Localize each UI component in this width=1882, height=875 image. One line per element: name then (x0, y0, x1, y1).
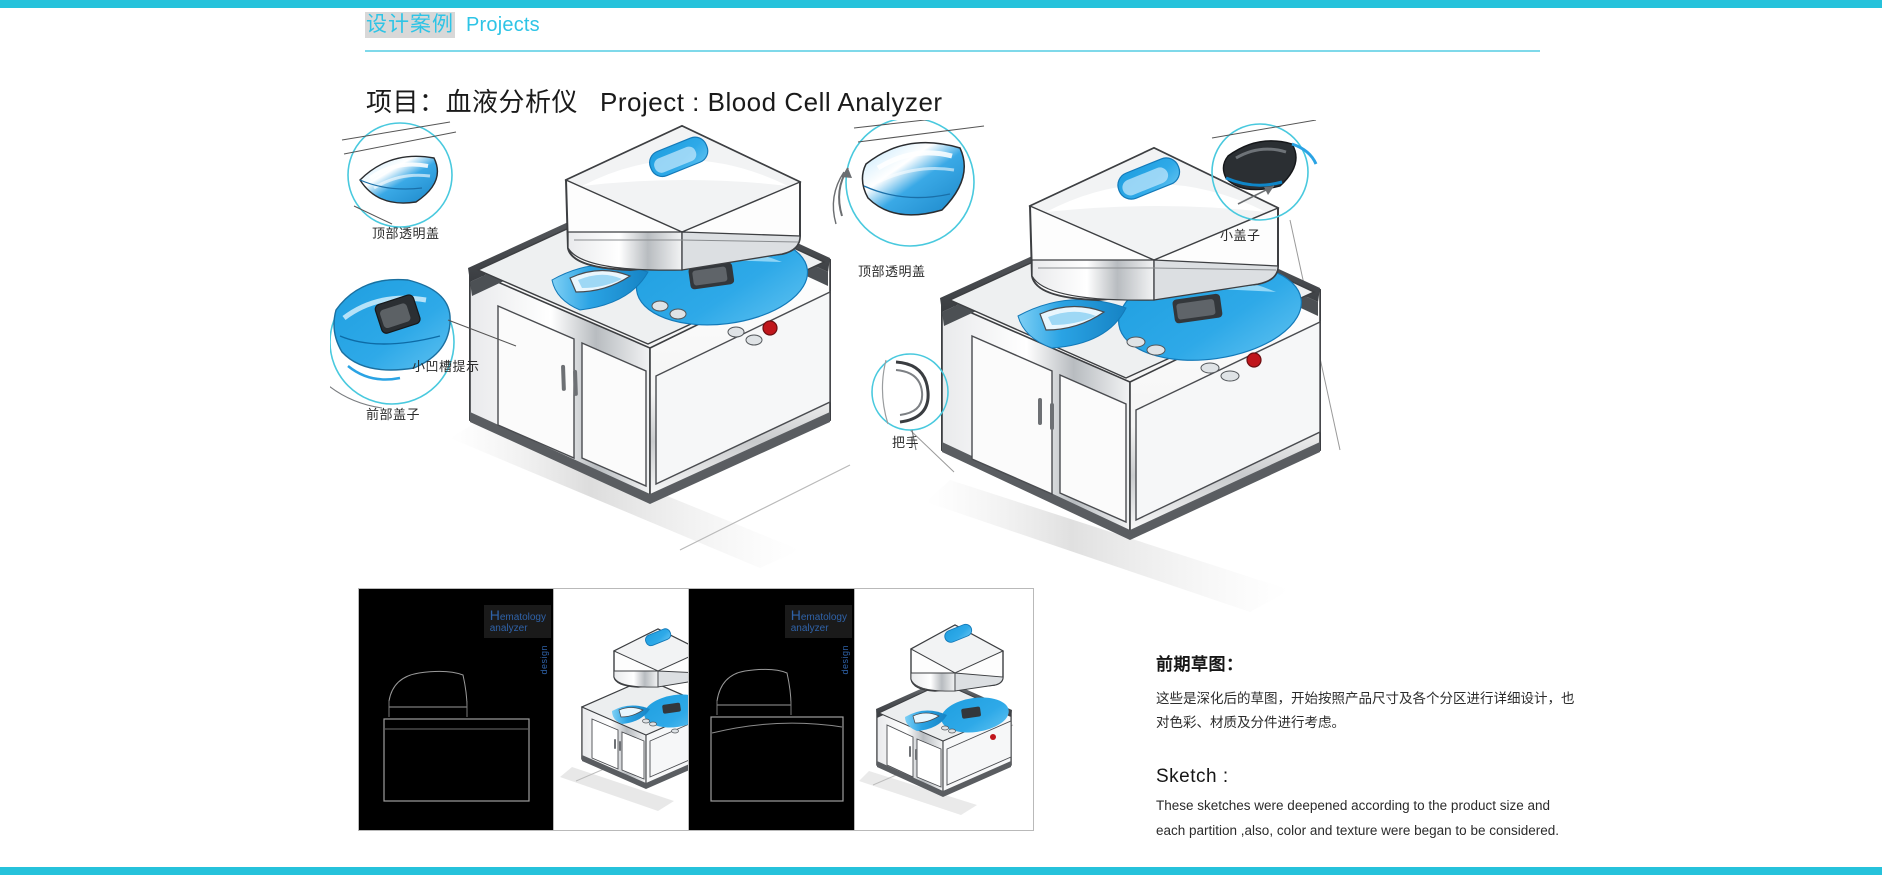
sketch-left-machine (450, 126, 850, 568)
callout-left-top-cover (342, 122, 456, 227)
callout-label-groove-hint: 小凹槽提示 (412, 356, 480, 375)
page-title: 项目：血液分析仪Project : Blood Cell Analyzer (366, 82, 943, 119)
sketch-panel-1-wireframe: Hematology analyzer design (359, 589, 553, 830)
callout-label-handle: 把手 (892, 432, 919, 451)
watermark-vertical-2: design (840, 645, 850, 675)
sketch-panel-1[interactable]: Hematology analyzer design (358, 588, 742, 831)
callout-right-top-cover (833, 120, 984, 246)
watermark-brand-1: Hematology analyzer (484, 605, 551, 638)
sketch-panel-2-wireframe: Hematology analyzer design (689, 589, 854, 830)
watermark-line2-2: analyzer (791, 624, 847, 635)
sketch-panel-2-render (854, 589, 1033, 830)
sketch-body-en: These sketches were deepened according t… (1156, 794, 1576, 844)
callout-label-top-cover-right: 顶部透明盖 (858, 261, 926, 280)
top-accent-bar (0, 0, 1882, 8)
watermark-rest-1: ematology (500, 612, 546, 623)
sketch-body-cn: 这些是深化后的草图，开始按照产品尺寸及各个分区进行详细设计，也对色彩、材质及分件… (1156, 687, 1576, 734)
watermark-vertical-1: design (539, 645, 549, 675)
watermark-rest-2: ematology (801, 612, 847, 623)
copy-spacer (1156, 734, 1576, 766)
watermark-line2-1: analyzer (490, 624, 546, 635)
description-block: 前期草图： 这些是深化后的草图，开始按照产品尺寸及各个分区进行详细设计，也对色彩… (1156, 650, 1576, 844)
watermark-initial-1: H (490, 607, 500, 623)
sketch-heading-cn: 前期草图： (1156, 650, 1576, 675)
page-title-cn: 项目：血液分析仪 (366, 87, 578, 117)
sketch-stage: 顶部透明盖 小凹槽提示 前部盖子 顶部透明盖 小盖子 把手 (330, 120, 1610, 620)
sketch-panel-2[interactable]: Hematology analyzer design (688, 588, 1034, 831)
page-header: 设计案例 Projects (365, 12, 1540, 52)
header-divider (365, 50, 1540, 52)
page-title-en: Project : Blood Cell Analyzer (600, 87, 943, 117)
rendered-sketch-2 (855, 589, 1033, 830)
tab-projects-en[interactable]: Projects (466, 14, 540, 37)
tab-projects-cn[interactable]: 设计案例 (365, 12, 455, 38)
sketch-illustrations (330, 120, 1610, 620)
callout-label-small-cover: 小盖子 (1220, 225, 1261, 244)
watermark-initial-2: H (791, 607, 801, 623)
sketch-heading-en: Sketch : (1156, 766, 1576, 788)
bottom-accent-bar (0, 867, 1882, 875)
callout-label-front-cover: 前部盖子 (366, 404, 420, 423)
header-tabs: 设计案例 Projects (365, 12, 1540, 46)
watermark-brand-2: Hematology analyzer (785, 605, 852, 638)
callout-label-top-cover-left: 顶部透明盖 (372, 223, 440, 242)
